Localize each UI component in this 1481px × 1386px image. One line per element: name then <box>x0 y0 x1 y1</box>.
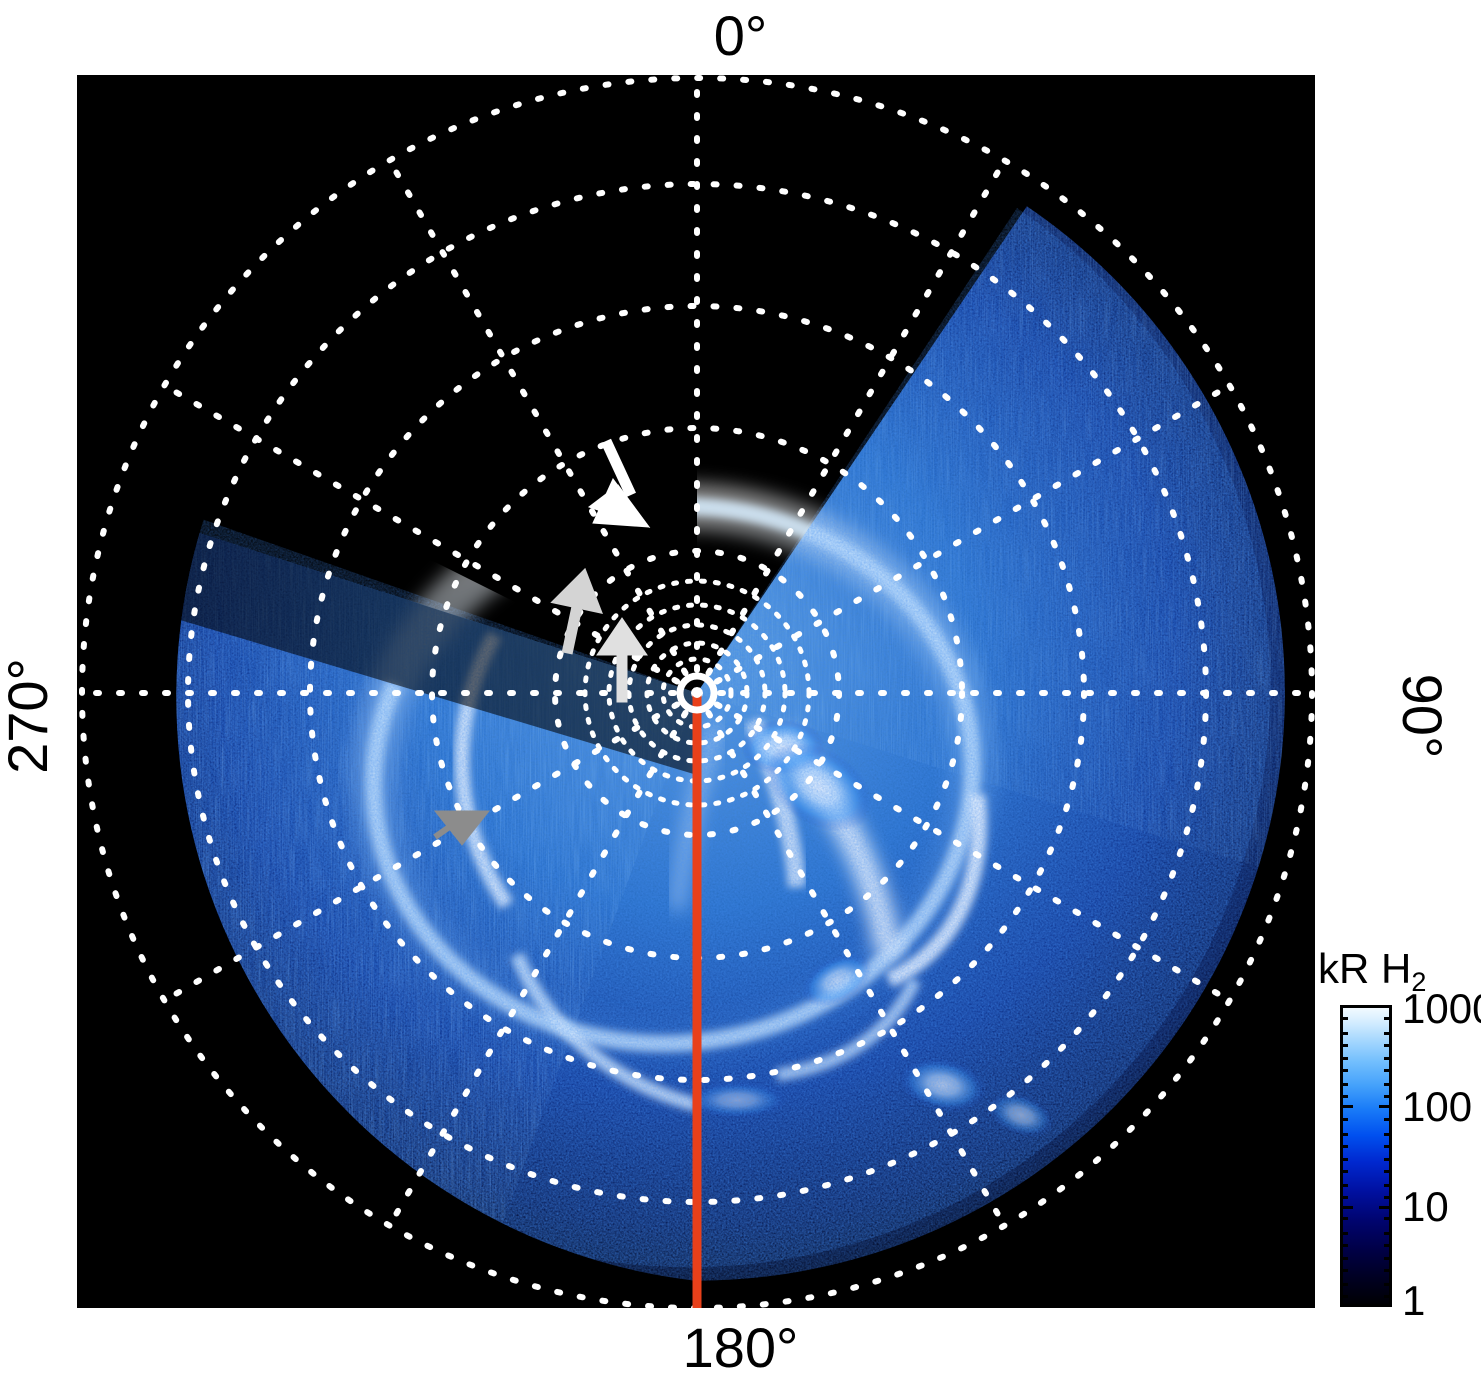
cb-minor-tick <box>1384 1269 1392 1272</box>
cb-minor-tick <box>1384 1044 1392 1047</box>
cb-minor-tick <box>1384 1295 1392 1298</box>
cb-minor-tick <box>1340 1257 1348 1260</box>
cb-minor-tick <box>1384 1257 1392 1260</box>
colorbar-title: kR H2 <box>1318 948 1426 990</box>
cb-tick-1000-right <box>1379 1005 1392 1008</box>
cb-tick-1-left <box>1340 1304 1353 1307</box>
cb-tick-10-right <box>1379 1206 1392 1209</box>
cb-tick-1-right <box>1379 1304 1392 1307</box>
cb-minor-tick <box>1340 1133 1348 1136</box>
cb-minor-tick <box>1340 1196 1348 1199</box>
cb-tick-100-left <box>1340 1105 1353 1108</box>
cb-minor-tick <box>1340 1283 1348 1286</box>
cb-minor-tick <box>1340 1083 1348 1086</box>
cb-minor-tick <box>1340 1057 1348 1060</box>
cb-minor-tick <box>1340 1044 1348 1047</box>
cb-minor-tick <box>1340 1269 1348 1272</box>
cb-minor-tick <box>1384 1118 1392 1121</box>
colorbar-title-text: kR H <box>1318 945 1411 992</box>
cb-minor-tick <box>1384 1244 1392 1247</box>
polar-plot-panel <box>77 75 1315 1308</box>
cb-minor-tick <box>1340 1232 1348 1235</box>
cb-minor-tick <box>1340 1118 1348 1121</box>
cb-minor-tick <box>1384 1184 1392 1187</box>
cb-minor-tick <box>1340 1069 1348 1072</box>
colorbar-tick-label-1: 1 <box>1402 1280 1425 1322</box>
cb-minor-tick <box>1340 1032 1348 1035</box>
colorbar-tick-label-10: 10 <box>1402 1186 1449 1228</box>
cb-minor-tick <box>1384 1017 1392 1020</box>
cb-minor-tick <box>1384 1069 1392 1072</box>
cb-minor-tick <box>1384 1095 1392 1098</box>
cb-minor-tick <box>1384 1057 1392 1060</box>
cb-minor-tick <box>1384 1083 1392 1086</box>
cb-minor-tick <box>1340 1017 1348 1020</box>
cb-minor-tick <box>1384 1133 1392 1136</box>
cb-minor-tick <box>1340 1170 1348 1173</box>
cb-tick-1000-left <box>1340 1005 1353 1008</box>
cb-minor-tick <box>1340 1295 1348 1298</box>
colorbar-tick-label-100: 100 <box>1402 1086 1472 1128</box>
cb-tick-100-right <box>1379 1105 1392 1108</box>
cb-minor-tick <box>1384 1032 1392 1035</box>
cb-minor-tick <box>1384 1232 1392 1235</box>
cb-minor-tick <box>1340 1217 1348 1220</box>
cb-minor-tick <box>1340 1184 1348 1187</box>
axis-label-90-deg: 90° <box>1394 626 1450 806</box>
colorbar-tick-marks <box>1340 1005 1392 1307</box>
cb-minor-tick <box>1384 1158 1392 1161</box>
colorbar-tick-label-1000: 1000 <box>1402 988 1481 1030</box>
axis-label-180-deg: 180° <box>0 1320 1481 1376</box>
polar-aurora-figure: 0° 90° 180° 270° <box>0 0 1481 1386</box>
white-arrow <box>589 441 649 527</box>
cb-minor-tick <box>1384 1283 1392 1286</box>
cb-minor-tick <box>1384 1196 1392 1199</box>
axis-label-270-deg: 270° <box>0 626 56 806</box>
polar-plot-canvas <box>77 75 1315 1308</box>
axis-label-0-deg: 0° <box>0 8 1481 64</box>
cb-tick-10-left <box>1340 1206 1353 1209</box>
cb-minor-tick <box>1340 1095 1348 1098</box>
cb-minor-tick <box>1384 1217 1392 1220</box>
cb-minor-tick <box>1340 1145 1348 1148</box>
cb-minor-tick <box>1384 1145 1392 1148</box>
cb-minor-tick <box>1384 1170 1392 1173</box>
cb-minor-tick <box>1340 1244 1348 1247</box>
cb-minor-tick <box>1340 1158 1348 1161</box>
